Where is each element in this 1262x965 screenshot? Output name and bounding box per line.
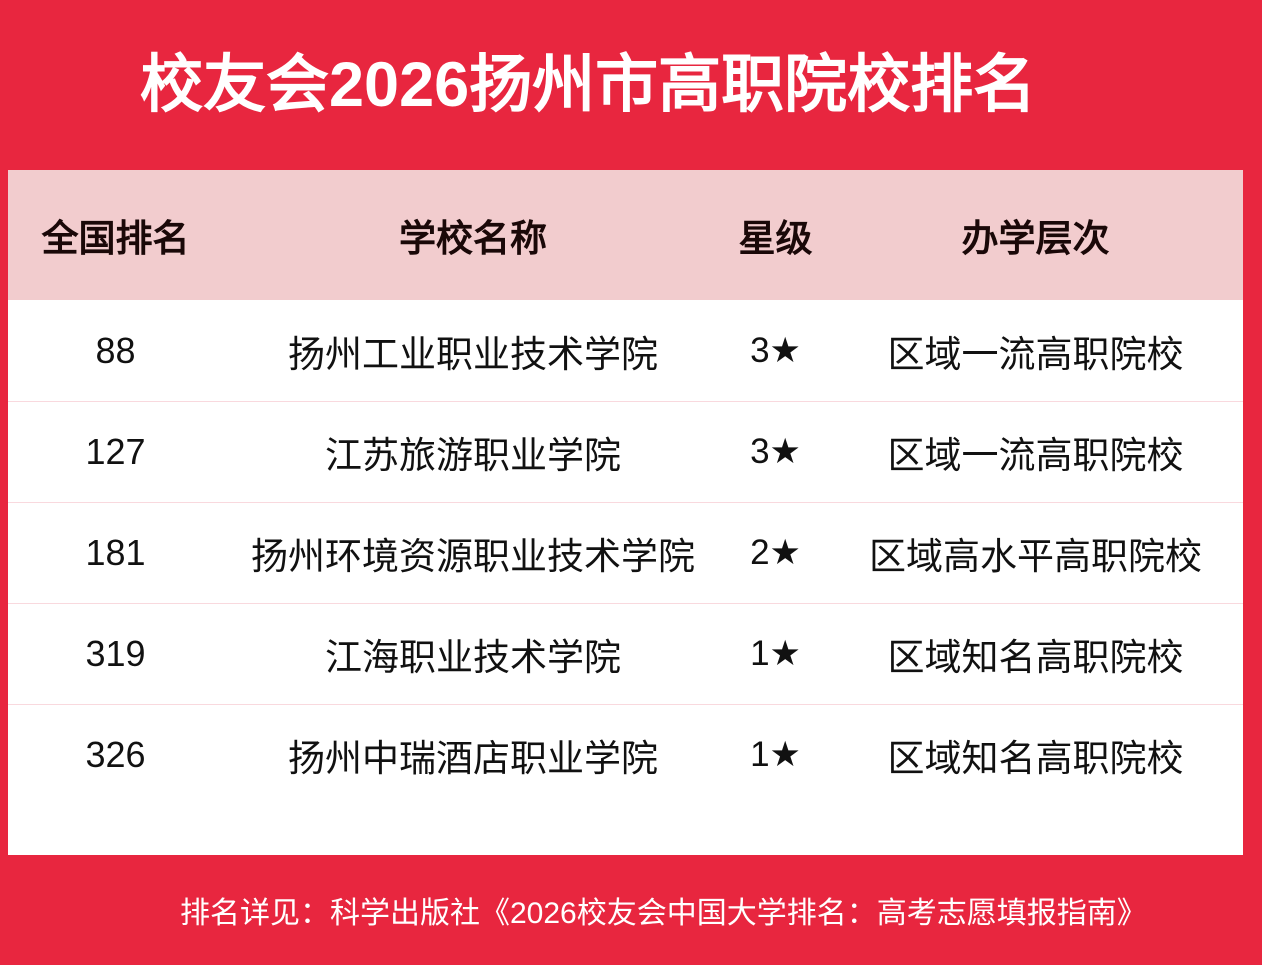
poster-title-bar: 校友会2026扬州市高职院校排名 [0, 0, 1262, 170]
cell-rank: 181 [8, 532, 223, 574]
cell-school-name: 扬州工业职业技术学院 [223, 324, 723, 378]
table-row: 326 扬州中瑞酒店职业学院 1★ 区域知名高职院校 [8, 704, 1243, 805]
column-header-star-rating: 星级 [723, 208, 828, 262]
cell-school-name: 江海职业技术学院 [223, 627, 723, 681]
table-row: 88 扬州工业职业技术学院 3★ 区域一流高职院校 [8, 300, 1243, 401]
ranking-table: 全国排名 学校名称 星级 办学层次 88 扬州工业职业技术学院 3★ 区域一流高… [8, 170, 1243, 855]
cell-star-rating: 3★ [723, 331, 828, 371]
cell-school-name: 江苏旅游职业学院 [223, 425, 723, 479]
cell-level: 区域知名高职院校 [828, 728, 1243, 782]
ranking-poster: 校友会2026扬州市高职院校排名 全国排名 学校名称 星级 办学层次 88 扬州… [0, 0, 1262, 965]
cell-level: 区域知名高职院校 [828, 627, 1243, 681]
cell-rank: 127 [8, 431, 223, 473]
footer-note: 排名详见：科学出版社《2026校友会中国大学排名：高考志愿填报指南》 [180, 888, 1147, 932]
page-title: 校友会2026扬州市高职院校排名 [140, 52, 1036, 118]
cell-school-name: 扬州环境资源职业技术学院 [223, 526, 723, 580]
cell-star-rating: 1★ [723, 735, 828, 775]
column-header-school-name: 学校名称 [223, 208, 723, 262]
column-header-level: 办学层次 [828, 208, 1243, 262]
cell-star-rating: 3★ [723, 432, 828, 472]
cell-level: 区域高水平高职院校 [828, 526, 1243, 580]
cell-star-rating: 1★ [723, 634, 828, 674]
table-row: 181 扬州环境资源职业技术学院 2★ 区域高水平高职院校 [8, 502, 1243, 603]
table-row: 127 江苏旅游职业学院 3★ 区域一流高职院校 [8, 401, 1243, 502]
table-header-row: 全国排名 学校名称 星级 办学层次 [8, 170, 1243, 300]
cell-school-name: 扬州中瑞酒店职业学院 [223, 728, 723, 782]
cell-rank: 326 [8, 734, 223, 776]
cell-star-rating: 2★ [723, 533, 828, 573]
cell-rank: 88 [8, 330, 223, 372]
poster-footer: 排名详见：科学出版社《2026校友会中国大学排名：高考志愿填报指南》 [0, 855, 1262, 965]
cell-level: 区域一流高职院校 [828, 425, 1243, 479]
cell-level: 区域一流高职院校 [828, 324, 1243, 378]
column-header-rank: 全国排名 [8, 208, 223, 262]
cell-rank: 319 [8, 633, 223, 675]
table-row: 319 江海职业技术学院 1★ 区域知名高职院校 [8, 603, 1243, 704]
